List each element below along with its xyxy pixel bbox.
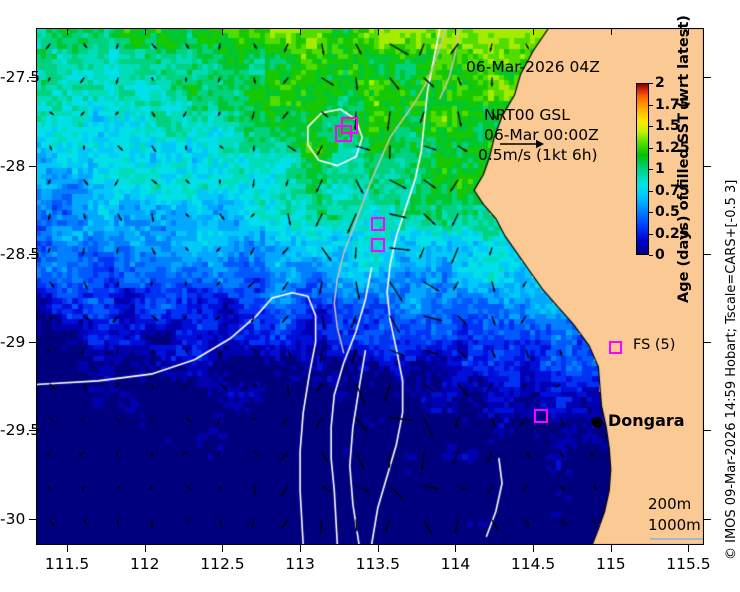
x-axis-tick (455, 545, 456, 552)
depth-legend-rule (650, 538, 704, 540)
depth-legend-1000m: 1000m (648, 516, 701, 534)
y-axis-tick-label: -28.5 (0, 245, 25, 263)
x-axis-tick-label: 114 (441, 555, 471, 573)
velocity-vector-overlay (36, 28, 704, 545)
y-axis-tick-label: -29 (0, 333, 25, 351)
y-axis-tick (29, 342, 36, 343)
y-axis-tick-label: -27.5 (0, 68, 25, 86)
y-axis-tick-right (704, 430, 711, 431)
x-axis-tick-top (67, 28, 68, 35)
colorbar-tick (649, 126, 653, 127)
right-arrow-icon (500, 138, 544, 150)
y-axis-tick-right (704, 519, 711, 520)
depth-legend-200m: 200m (648, 495, 691, 513)
x-axis-tick (378, 545, 379, 552)
x-axis-tick-label: 111.5 (45, 555, 89, 573)
x-axis-tick-label: 115 (596, 555, 626, 573)
x-axis-tick (533, 545, 534, 552)
x-axis-tick (145, 545, 146, 552)
x-axis-tick (688, 545, 689, 552)
colorbar-tick (649, 234, 653, 235)
y-axis-tick-label: -28 (0, 157, 25, 175)
colorbar-tick (649, 255, 653, 256)
x-axis-tick (67, 545, 68, 552)
y-axis-tick-right (704, 166, 711, 167)
colorbar-tick (649, 148, 653, 149)
x-axis-tick-label: 113 (285, 555, 315, 573)
x-axis-tick-label: 112.5 (200, 555, 244, 573)
dongara-marker-icon (592, 417, 603, 428)
y-axis-tick (29, 166, 36, 167)
datetime-stamp: 06-Mar-2026 04Z (466, 58, 600, 76)
x-axis-tick-top (378, 28, 379, 35)
station-box-marker (534, 409, 548, 423)
station-legend-label: FS (5) (633, 337, 675, 353)
credit-text: © IMOS 09-Mar-2026 14:59 Hobart; Tscale=… (724, 180, 739, 560)
colorbar-tick (649, 191, 653, 192)
x-axis-tick-label: 112 (130, 555, 160, 573)
current-legend-line1: NRT00 GSL (484, 106, 570, 124)
x-axis-tick-label: 113.5 (356, 555, 400, 573)
station-box-marker (371, 238, 385, 252)
colorbar-tick (649, 83, 653, 84)
x-axis-tick-top (455, 28, 456, 35)
colorbar-tick (649, 212, 653, 213)
x-axis-tick-top (611, 28, 612, 35)
y-axis-tick-label: -30 (0, 510, 25, 528)
colorbar-title: Age (days) of filled SST (wrt latest) (676, 15, 692, 303)
x-axis-tick-top (300, 28, 301, 35)
map-plot-area[interactable]: 06-Mar-2026 04Z NRT00 GSL 06-Mar 00:00Z … (36, 28, 704, 545)
x-axis-tick-top (145, 28, 146, 35)
colorbar-tick-label: 2 (655, 75, 665, 91)
station-box-marker (341, 117, 358, 134)
colorbar-tick (649, 105, 653, 106)
x-axis-tick (300, 545, 301, 552)
colorbar-tick (649, 169, 653, 170)
y-axis-tick-label: -29.5 (0, 421, 25, 439)
figure-canvas: 06-Mar-2026 04Z NRT00 GSL 06-Mar 00:00Z … (0, 0, 740, 592)
colorbar-tick-label: 1 (655, 161, 665, 177)
x-axis-tick-top (222, 28, 223, 35)
x-axis-tick (611, 545, 612, 552)
dongara-label: Dongara (608, 411, 685, 430)
colorbar-tick-label: 0 (655, 247, 665, 263)
y-axis-tick (29, 519, 36, 520)
station-box-marker (371, 217, 385, 231)
x-axis-tick-label: 114.5 (511, 555, 555, 573)
y-axis-tick-right (704, 342, 711, 343)
x-axis-tick-top (533, 28, 534, 35)
y-axis-tick-right (704, 254, 711, 255)
colorbar (636, 83, 649, 255)
x-axis-tick (222, 545, 223, 552)
station-legend-marker-icon (609, 341, 622, 354)
x-axis-tick-label: 115.5 (666, 555, 710, 573)
y-axis-tick-right (704, 77, 711, 78)
